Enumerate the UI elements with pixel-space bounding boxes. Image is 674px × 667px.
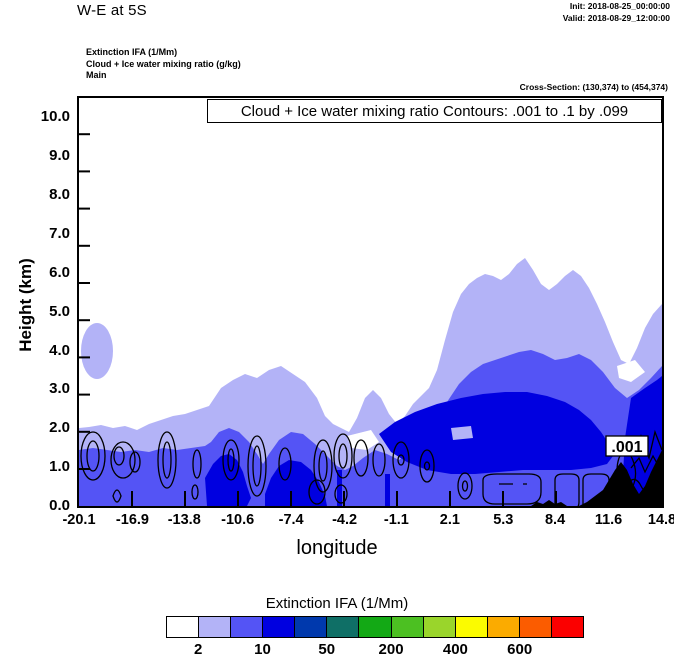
variable-contoured: Cloud + Ice water mixing ratio (g/kg) xyxy=(86,59,241,71)
x-axis-title: longitude xyxy=(0,537,674,560)
contour-title-box: Cloud + Ice water mixing ratio Contours:… xyxy=(207,99,662,123)
y-tick-label: 9.0 xyxy=(18,147,70,164)
domain-name: Main xyxy=(86,70,241,82)
elevated-haze-blob xyxy=(81,323,113,379)
variable-description: Extinction IFA (1/Mm) Cloud + Ice water … xyxy=(86,47,241,82)
x-axis-tick-labels: -20.1-16.9-13.8-10.6-7.4-4.2-1.12.15.38.… xyxy=(0,512,674,534)
variable-shaded: Extinction IFA (1/Mm) xyxy=(86,47,241,59)
clear-air-pocket xyxy=(451,426,473,440)
colorbar-swatch xyxy=(263,617,295,637)
colorbar-swatch xyxy=(456,617,488,637)
y-tick-marks xyxy=(79,134,90,469)
init-time: Init: 2018-08-25_00:00:00 xyxy=(563,1,670,13)
x-tick-label: 14.8 xyxy=(627,512,674,528)
y-tick-label: 2.0 xyxy=(18,419,70,436)
plot-drawing-area: .001 xyxy=(79,98,662,506)
colorbar-swatch xyxy=(199,617,231,637)
colorbar-swatch xyxy=(231,617,263,637)
contour-inline-label-group: .001 xyxy=(606,436,648,456)
y-axis-title: Height (km) xyxy=(16,235,36,375)
colorbar-tick-label: 2 xyxy=(168,641,228,658)
colorbar-tick-labels: 21050200400600 xyxy=(0,641,674,665)
run-metadata: Init: 2018-08-25_00:00:00 Valid: 2018-08… xyxy=(563,1,670,24)
colorbar-tick-label: 200 xyxy=(361,641,421,658)
colorbar-tick-label: 50 xyxy=(297,641,357,658)
convective-filament xyxy=(385,474,390,506)
colorbar-tick-label: 400 xyxy=(425,641,485,658)
colorbar-swatch xyxy=(520,617,552,637)
colorbar-swatch xyxy=(552,617,583,637)
y-tick-label: 8.0 xyxy=(18,186,70,203)
colorbar xyxy=(166,616,584,638)
colorbar-tick-label: 10 xyxy=(232,641,292,658)
colorbar-swatch xyxy=(167,617,199,637)
colorbar-tick-label: 600 xyxy=(490,641,550,658)
colorbar-swatch xyxy=(488,617,520,637)
valid-time: Valid: 2018-08-29_12:00:00 xyxy=(563,13,670,25)
colorbar-swatch xyxy=(392,617,424,637)
y-tick-label: 3.0 xyxy=(18,380,70,397)
colorbar-swatch xyxy=(327,617,359,637)
colorbar-title: Extinction IFA (1/Mm) xyxy=(0,595,674,612)
y-tick-label: 1.0 xyxy=(18,458,70,475)
cross-section-endpoints: Cross-Section: (130,374) to (454,374) xyxy=(520,82,668,92)
colorbar-swatch xyxy=(295,617,327,637)
colorbar-swatch xyxy=(359,617,391,637)
colorbar-swatch xyxy=(424,617,456,637)
svg-text:.001: .001 xyxy=(611,439,642,456)
cross-section-plot: .001 xyxy=(77,96,664,508)
page-title: W-E at 5S xyxy=(77,2,147,19)
y-tick-label: 10.0 xyxy=(18,108,70,125)
